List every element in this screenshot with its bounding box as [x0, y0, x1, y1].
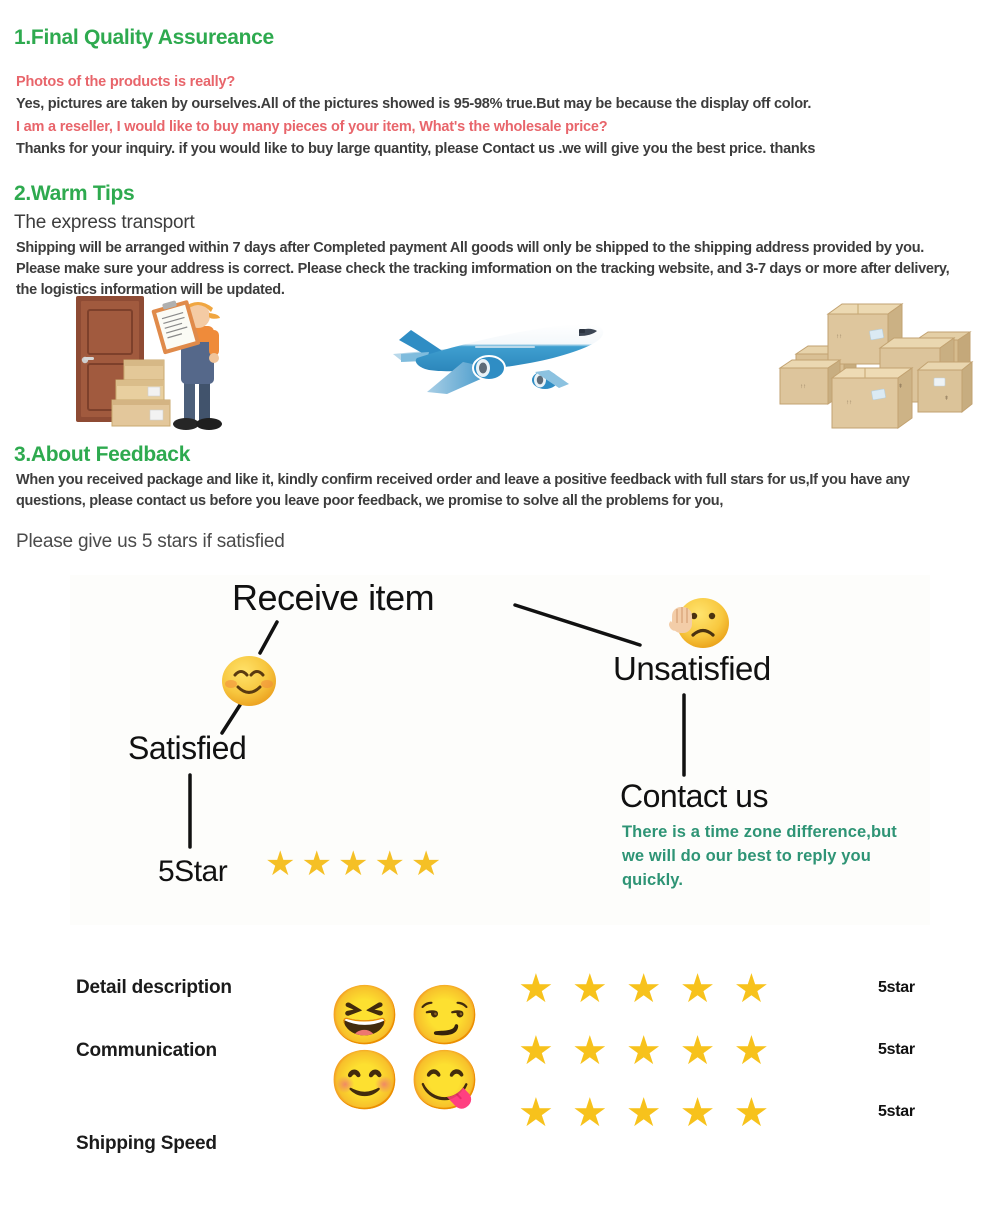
- svg-text:↑↑: ↑↑: [836, 334, 842, 340]
- laughing-face-emoji: 😆: [325, 985, 405, 1050]
- feedback-paragraph-line-2: questions, please contact us before you …: [16, 491, 723, 512]
- flow-node-unsatisfied: Unsatisfied: [613, 650, 771, 688]
- section-heading-about-feedback: 3.About Feedback: [14, 443, 190, 467]
- rating-emoji-cluster: 😆 😏 😊 😋: [325, 985, 485, 1115]
- tongue-out-face-emoji: 😋: [405, 1050, 485, 1115]
- rating-stars-shipping-speed: ★★★★★: [518, 1093, 787, 1133]
- rating-caption-shipping-speed: 5star: [878, 1103, 915, 1121]
- flow-five-star-rating: ★★★★★: [265, 847, 447, 881]
- answer-photos-real: Yes, pictures are taken by ourselves.All…: [16, 96, 811, 112]
- flow-node-receive-item: Receive item: [232, 577, 434, 619]
- shipping-paragraph-line-1: Shipping will be arranged within 7 days …: [16, 238, 924, 259]
- smiling-face-emoji: [220, 653, 278, 709]
- winking-face-emoji: 😏: [405, 985, 485, 1050]
- faq-page: 1.Final Quality Assureance Photos of the…: [0, 0, 1000, 1205]
- question-wholesale-price: I am a reseller, I would like to buy man…: [16, 119, 607, 135]
- feedback-flow-diagram: Receive item Satisfied: [70, 575, 930, 925]
- rating-label-detail-description: Detail description: [76, 977, 232, 999]
- section-heading-warm-tips: 2.Warm Tips: [14, 182, 134, 206]
- frowning-face-with-hand-emoji: [665, 593, 733, 655]
- smiling-face-emoji: 😊: [325, 1050, 405, 1115]
- rating-summary-table: Detail description Communication Shippin…: [0, 955, 1000, 1160]
- rating-caption-communication: 5star: [878, 1041, 915, 1059]
- svg-text:⇞: ⇞: [944, 395, 949, 402]
- illustration-row: ↑↑ ↑↑ ↑↑ ⇞ ⇞: [0, 292, 1000, 440]
- rating-label-communication: Communication: [76, 1040, 217, 1062]
- call-to-action-five-stars: Please give us 5 stars if satisfied: [16, 531, 285, 553]
- subheading-express-transport: The express transport: [14, 212, 195, 234]
- rating-stars-detail-description: ★★★★★: [518, 969, 787, 1009]
- flow-node-contact-us: Contact us: [620, 778, 768, 815]
- rating-caption-detail-description: 5star: [878, 979, 915, 997]
- answer-wholesale-price: Thanks for your inquiry. if you would li…: [16, 141, 815, 157]
- airplane-illustration: [383, 310, 609, 410]
- svg-text:↑↑: ↑↑: [800, 384, 806, 390]
- flow-node-five-star-label: 5Star: [158, 855, 227, 889]
- delivery-man-at-door-illustration: [72, 292, 252, 432]
- svg-text:⇞: ⇞: [898, 383, 903, 390]
- rating-label-shipping-speed: Shipping Speed: [76, 1133, 217, 1155]
- rating-stars-communication: ★★★★★: [518, 1031, 787, 1071]
- svg-text:↑↑: ↑↑: [846, 400, 852, 406]
- contact-us-note: There is a time zone difference,but we w…: [622, 820, 922, 892]
- shipping-paragraph-line-2: Please make sure your address is correct…: [16, 259, 949, 280]
- feedback-paragraph-line-1: When you received package and like it, k…: [16, 470, 910, 491]
- flow-node-satisfied: Satisfied: [128, 730, 246, 767]
- question-photos-real: Photos of the products is really?: [16, 74, 235, 90]
- section-heading-quality: 1.Final Quality Assureance: [14, 26, 274, 50]
- cardboard-boxes-illustration: ↑↑ ↑↑ ↑↑ ⇞ ⇞: [776, 292, 976, 434]
